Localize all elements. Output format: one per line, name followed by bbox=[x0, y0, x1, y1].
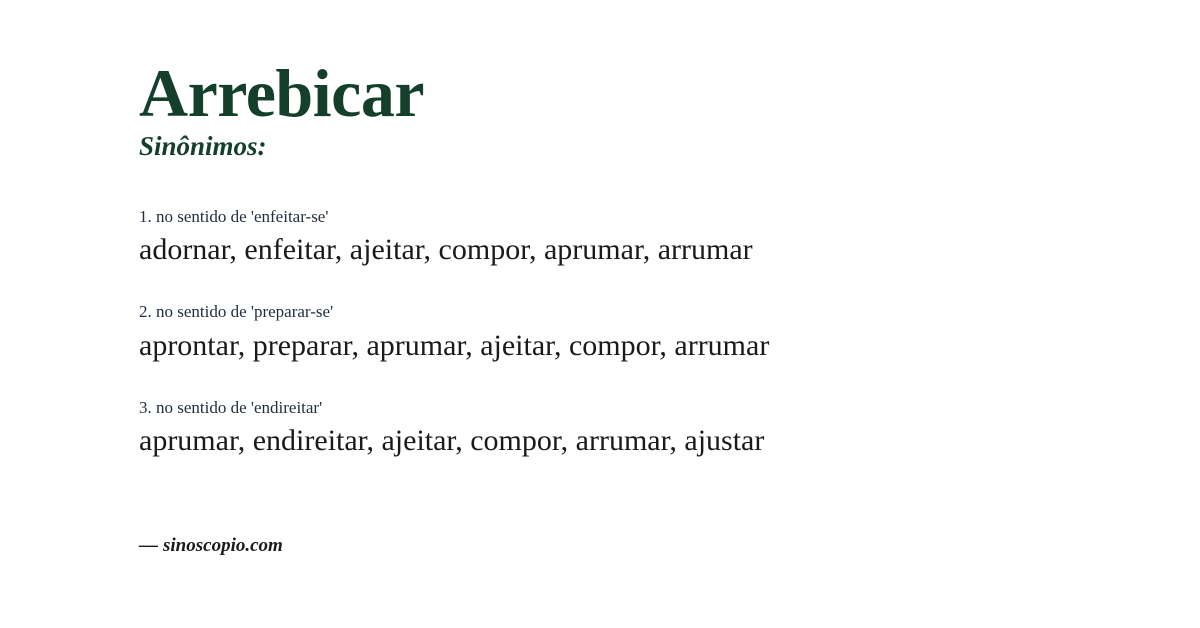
source-site: sinoscopio.com bbox=[163, 535, 283, 556]
synonyms-subtitle: Sinônimos: bbox=[139, 133, 267, 160]
sense-label: 1. no sentido de 'enfeitar-se' bbox=[139, 206, 1139, 228]
page-title: Arrebicar bbox=[139, 59, 424, 127]
sense-label: 2. no sentido de 'preparar-se' bbox=[139, 301, 1139, 323]
sense-synonyms: aprontar, preparar, aprumar, ajeitar, co… bbox=[139, 327, 1139, 365]
sense-entry: 2. no sentido de 'preparar-se' aprontar,… bbox=[139, 301, 1139, 364]
source-attribution: —sinoscopio.com bbox=[139, 534, 283, 559]
sense-list: 1. no sentido de 'enfeitar-se' adornar, … bbox=[139, 206, 1139, 460]
sense-synonyms: aprumar, endireitar, ajeitar, compor, ar… bbox=[139, 422, 1139, 460]
em-dash: — bbox=[139, 535, 158, 556]
sense-synonyms: adornar, enfeitar, ajeitar, compor, apru… bbox=[139, 231, 1139, 269]
synonym-card: Arrebicar Sinônimos: 1. no sentido de 'e… bbox=[0, 0, 1200, 628]
sense-label: 3. no sentido de 'endireitar' bbox=[139, 397, 1139, 419]
sense-entry: 1. no sentido de 'enfeitar-se' adornar, … bbox=[139, 206, 1139, 269]
sense-entry: 3. no sentido de 'endireitar' aprumar, e… bbox=[139, 397, 1139, 460]
